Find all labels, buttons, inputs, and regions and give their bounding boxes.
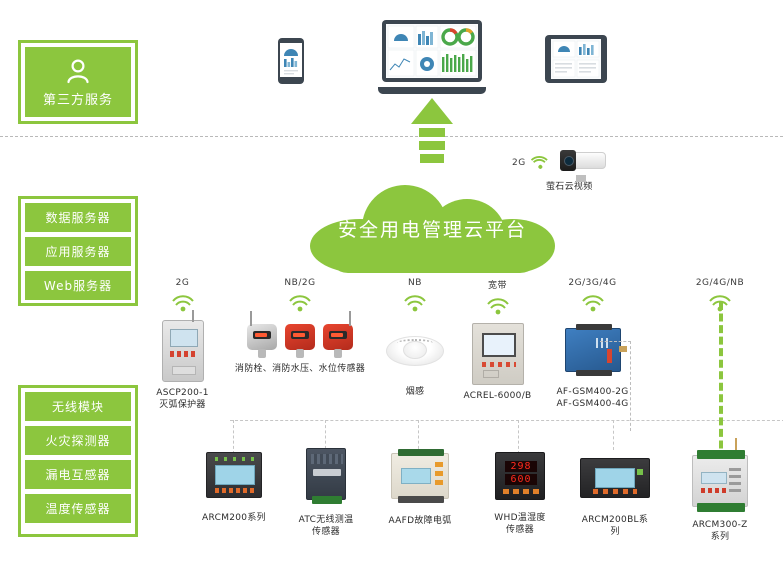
node-arcm200bl: ARCM200BL系列 <box>578 458 652 538</box>
server-item-data[interactable]: 数据服务器 <box>25 203 131 232</box>
device-label: ARCM300-Z系列 <box>690 519 750 543</box>
wifi-icon <box>402 290 428 312</box>
server-item-app[interactable]: 应用服务器 <box>25 237 131 266</box>
ip-camera <box>554 150 610 176</box>
gsm-drop-line <box>630 341 631 431</box>
fire-hydrant-sensor <box>285 324 315 358</box>
node-ascp200: 2G ASCP200-1 灭弧保护器 <box>145 278 220 411</box>
device-label: ASCP200-1 灭弧保护器 <box>145 387 220 411</box>
whd-display-top: 298 <box>505 461 537 472</box>
server-item-web[interactable]: Web服务器 <box>25 271 131 300</box>
device-label: ARCM200BL系列 <box>578 514 652 538</box>
node-arcm200: ARCM200系列 <box>198 452 270 524</box>
node-acrel6000b: 宽带 ACREL-6000/B <box>455 278 540 402</box>
acrel-6000b-cabinet <box>472 323 524 385</box>
network-label: NB <box>370 278 460 288</box>
node-whd: 298 600 WHD温湿度 传感器 <box>490 452 550 536</box>
cloud-platform-label: 安全用电管理云平台 <box>310 215 555 242</box>
device-label: WHD温湿度 传感器 <box>490 512 550 536</box>
node-pressure-sensors: NB/2G 消防栓、消防水压、水位传感器 <box>225 278 375 375</box>
atc-wireless-temp-sensor <box>306 448 346 500</box>
device-tablet <box>545 35 607 83</box>
network-label: 宽带 <box>455 278 540 291</box>
node-atc-sensor: ATC无线测温 传感器 <box>293 448 359 538</box>
network-label: NB/2G <box>225 278 375 288</box>
dashboard-graphic <box>280 43 302 77</box>
module-item-temp-sensor[interactable]: 温度传感器 <box>25 494 131 523</box>
wifi-icon <box>170 290 196 312</box>
bus-drop-4 <box>518 420 519 454</box>
whd-temp-humidity-meter: 298 600 <box>495 452 545 500</box>
aafd-arc-fault-detector <box>391 453 449 499</box>
cloud-platform[interactable]: 安全用电管理云平台 <box>310 185 555 273</box>
network-label: 2G <box>145 278 220 288</box>
wifi-icon <box>485 293 511 315</box>
laptop <box>378 20 486 94</box>
wifi-icon <box>580 290 606 312</box>
module-item-wireless[interactable]: 无线模块 <box>25 392 131 421</box>
panel-modules: 无线模块 火灾探测器 漏电互感器 温度传感器 <box>18 385 138 537</box>
node-aafd: AAFD故障电弧 <box>385 453 455 527</box>
separator-bus <box>230 420 783 421</box>
smartphone <box>278 38 304 84</box>
panel-servers: 数据服务器 应用服务器 Web服务器 <box>18 196 138 306</box>
panel-third-party-service[interactable]: 第三方服务 <box>18 40 138 124</box>
dashboard-graphic <box>551 39 601 79</box>
bus-drop-1 <box>233 420 234 454</box>
bus-drop-5 <box>613 420 614 450</box>
device-label: AAFD故障电弧 <box>385 515 455 527</box>
gsm-lead-line <box>600 341 631 342</box>
wifi-icon <box>287 290 313 312</box>
wifi-icon <box>526 149 554 177</box>
water-level-sensor <box>247 324 277 358</box>
wireless-link-line <box>719 302 723 460</box>
dashboard-graphic <box>386 24 478 78</box>
device-label: 消防栓、消防水压、水位传感器 <box>225 363 375 375</box>
whd-display-bottom: 600 <box>505 474 537 485</box>
module-item-fire-detector[interactable]: 火灾探测器 <box>25 426 131 455</box>
device-label: ARCM200系列 <box>198 512 270 524</box>
camera-network-label: 2G <box>512 158 526 168</box>
arcm300z-meter <box>692 455 748 507</box>
node-smoke-detector: NB 烟感 <box>370 278 460 398</box>
device-label: ACREL-6000/B <box>455 390 540 402</box>
smoke-detector <box>386 330 444 372</box>
arcm200-meter <box>206 452 262 498</box>
network-label: 2G/4G/NB <box>680 278 760 288</box>
separator-top <box>0 136 783 137</box>
device-label: 烟感 <box>370 386 460 398</box>
node-camera: 2G 萤石云视频 <box>512 150 652 193</box>
camera-label: 萤石云视频 <box>546 181 652 193</box>
device-laptop <box>378 20 486 94</box>
water-pressure-sensor <box>323 324 353 358</box>
network-label: 2G/3G/4G <box>540 278 645 288</box>
user-icon <box>63 57 93 87</box>
module-item-leakage-ct[interactable]: 漏电互感器 <box>25 460 131 489</box>
upload-arrow-icon <box>410 98 454 163</box>
node-arcm300z: ARCM300-Z系列 <box>690 455 750 543</box>
af-gsm400-module <box>565 328 621 372</box>
third-party-label: 第三方服务 <box>43 89 113 108</box>
device-smartphone <box>278 38 304 84</box>
architecture-diagram: 第三方服务 数据服务器 应用服务器 Web服务器 无线模块 火灾探测器 漏电互感… <box>0 0 783 561</box>
ascp200-arc-protector <box>162 320 204 382</box>
device-label: ATC无线测温 传感器 <box>293 514 359 538</box>
arcm200bl-meter <box>580 458 650 498</box>
tablet <box>545 35 607 83</box>
